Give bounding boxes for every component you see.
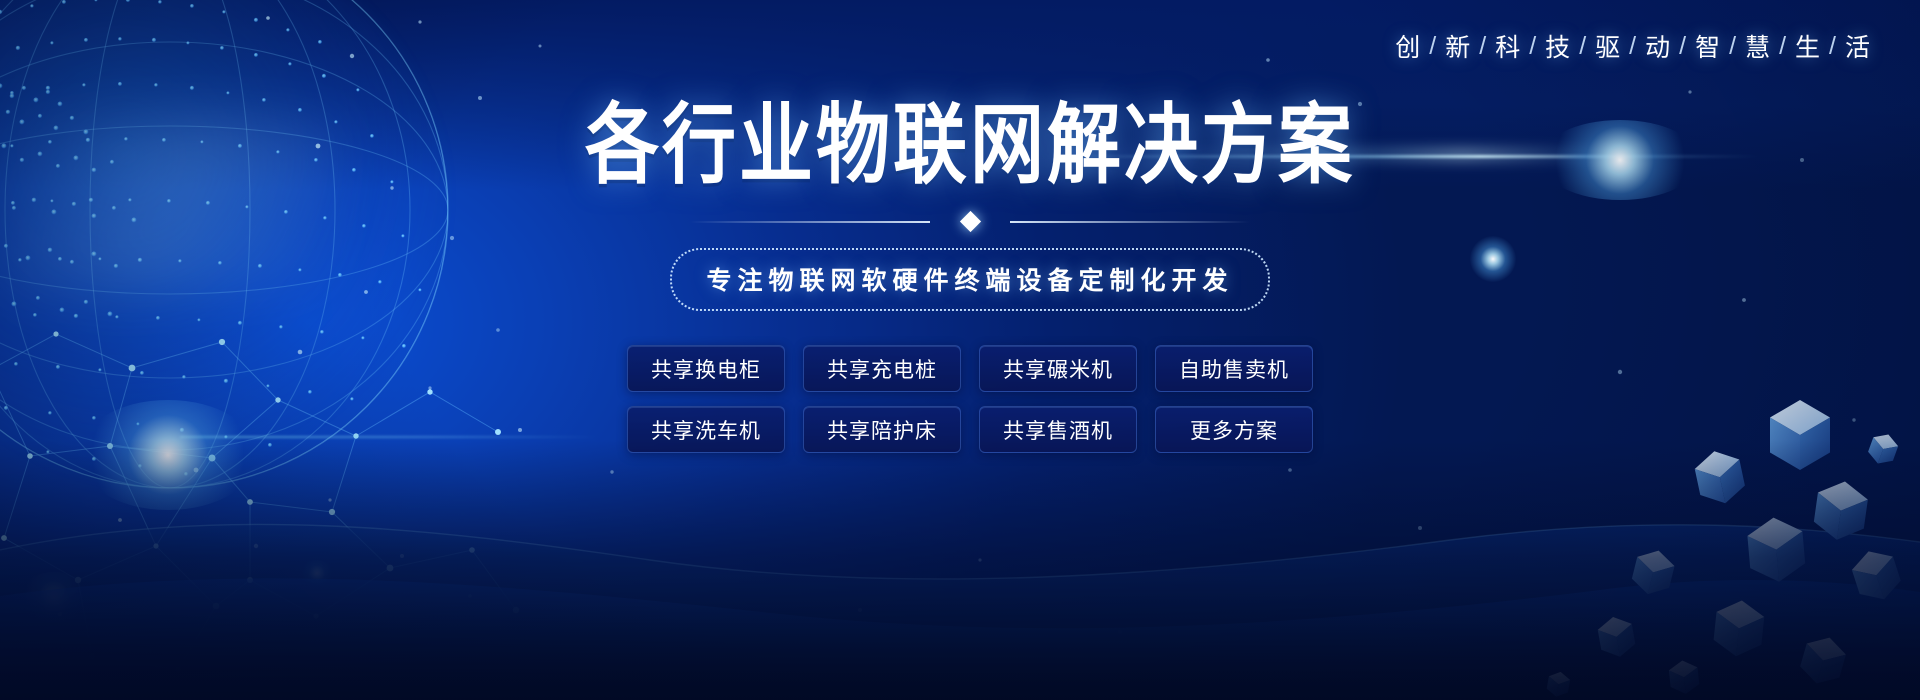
tagline-separator: / — [1579, 32, 1587, 61]
divider-line-left — [690, 221, 930, 223]
tagline-char: 驱 — [1595, 28, 1621, 64]
tagline-char: 技 — [1545, 28, 1571, 64]
solution-chip[interactable]: 更多方案 — [1155, 406, 1313, 453]
solution-chip[interactable]: 共享洗车机 — [627, 406, 785, 453]
hero-content: 各行业物联网解决方案 专注物联网软硬件终端设备定制化开发 共享换电柜共享充电桩共… — [0, 102, 1920, 453]
lens-flare-bottom-left — [20, 572, 88, 622]
subtitle-pill: 专注物联网软硬件终端设备定制化开发 — [670, 248, 1269, 311]
tagline-char: 生 — [1795, 28, 1821, 64]
solution-chip-grid: 共享换电柜共享充电桩共享碾米机自助售卖机共享洗车机共享陪护床共享售酒机更多方案 — [627, 345, 1313, 453]
tagline-separator: / — [1529, 32, 1537, 61]
tagline-char: 动 — [1645, 28, 1671, 64]
tagline-separator: / — [1829, 32, 1837, 61]
tagline-char: 科 — [1495, 28, 1521, 64]
solution-chip[interactable]: 共享售酒机 — [979, 406, 1137, 453]
lens-flare-bottom-mid — [300, 560, 334, 586]
tagline-separator: / — [1479, 32, 1487, 61]
tagline-char: 活 — [1845, 28, 1871, 64]
solution-chip-row: 共享洗车机共享陪护床共享售酒机更多方案 — [627, 406, 1313, 453]
tagline-char: 慧 — [1745, 28, 1771, 64]
divider-line-right — [1010, 221, 1250, 223]
diamond-icon — [959, 210, 980, 231]
solution-chip[interactable]: 共享碾米机 — [979, 345, 1137, 392]
tagline-separator: / — [1629, 32, 1637, 61]
tagline-separator: / — [1729, 32, 1737, 61]
solution-chip-row: 共享换电柜共享充电桩共享碾米机自助售卖机 — [627, 345, 1313, 392]
solution-chip[interactable]: 共享充电桩 — [803, 345, 961, 392]
iot-solutions-banner: 创/新/科/技/驱/动/智/慧/生/活 各行业物联网解决方案 专注物联网软硬件终… — [0, 0, 1920, 700]
tagline-separator: / — [1679, 32, 1687, 61]
tagline-char: 创 — [1395, 28, 1421, 64]
solution-chip[interactable]: 自助售卖机 — [1155, 345, 1313, 392]
tagline-char: 智 — [1695, 28, 1721, 64]
background-bottom-gradient — [0, 440, 1920, 700]
tagline-char: 新 — [1445, 28, 1471, 64]
solution-chip[interactable]: 共享换电柜 — [627, 345, 785, 392]
solution-chip[interactable]: 共享陪护床 — [803, 406, 961, 453]
tagline-separator: / — [1779, 32, 1787, 61]
title-divider — [690, 210, 1250, 232]
tagline-separator: / — [1429, 32, 1437, 61]
page-title: 各行业物联网解决方案 — [585, 102, 1355, 189]
brand-tagline: 创/新/科/技/驱/动/智/慧/生/活 — [1394, 28, 1872, 64]
